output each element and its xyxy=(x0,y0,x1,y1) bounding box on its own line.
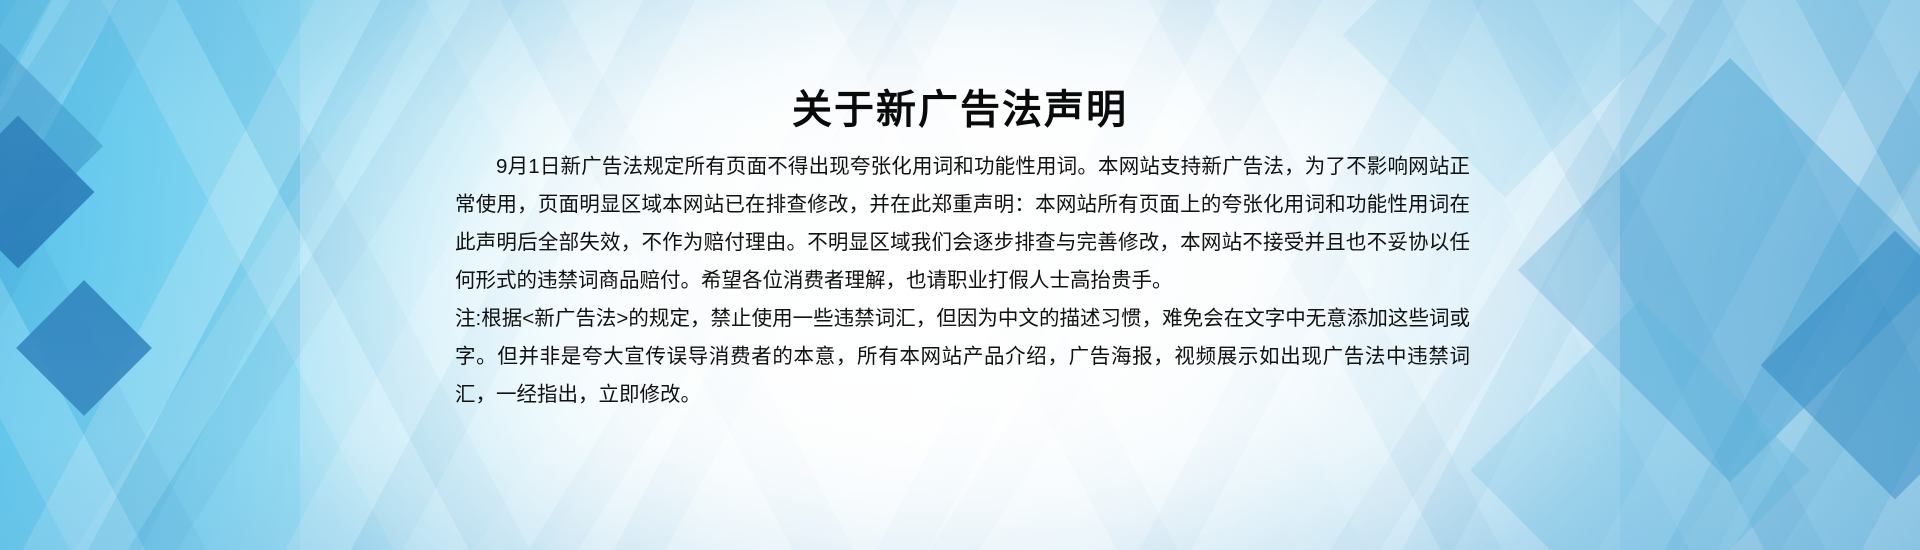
banner-content: 关于新广告法声明 9月1日新广告法规定所有页面不得出现夸张化用词和功能性用词。本… xyxy=(0,0,1920,550)
page-title: 关于新广告法声明 xyxy=(0,86,1920,134)
advertising-law-statement-banner: 关于新广告法声明 9月1日新广告法规定所有页面不得出现夸张化用词和功能性用词。本… xyxy=(0,0,1920,550)
statement-paragraph-note: 注:根据<新广告法>的规定，禁止使用一些违禁词汇，但因为中文的描述习惯，难免会在… xyxy=(455,300,1470,414)
statement-paragraph-main: 9月1日新广告法规定所有页面不得出现夸张化用词和功能性用词。本网站支持新广告法，… xyxy=(455,148,1470,300)
statement-body: 9月1日新广告法规定所有页面不得出现夸张化用词和功能性用词。本网站支持新广告法，… xyxy=(455,148,1470,414)
